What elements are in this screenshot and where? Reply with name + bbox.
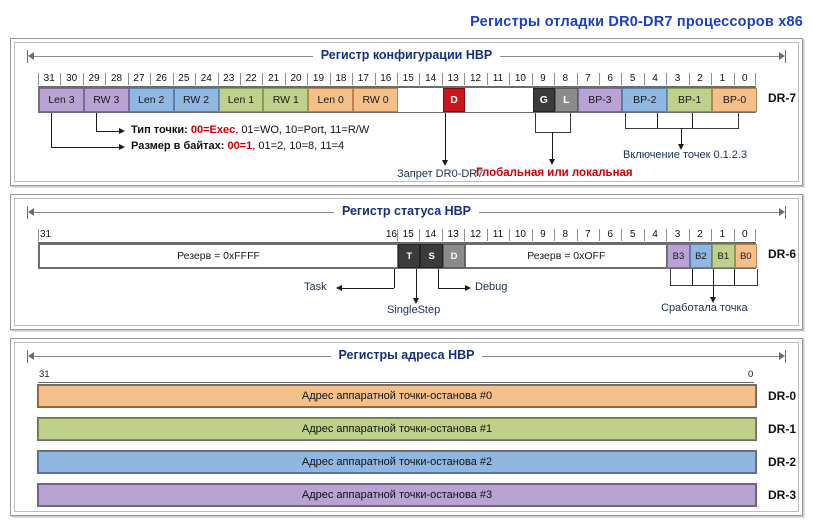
dr6-bit-number: 8	[554, 228, 576, 241]
dr6-bit-separator	[734, 229, 735, 241]
dr6-bit-number: 1	[711, 228, 733, 241]
dr7-bit-separator	[83, 73, 84, 85]
dr7-bit-number: 14	[419, 72, 441, 85]
dr6-field-b1: B1	[712, 244, 734, 268]
dr7-bit-separator	[464, 73, 465, 85]
dr7-field-bp-3: BP-3	[578, 88, 623, 112]
dr7-bit-separator	[38, 73, 39, 85]
dr7-bit-number: 24	[195, 72, 217, 85]
dr7-bit-number: 11	[487, 72, 509, 85]
dr6-bit-number: 7	[577, 228, 599, 241]
dr7-bit-separator	[352, 73, 353, 85]
dr7-field-l: L	[555, 88, 577, 112]
dr7-field-rw-0: RW 0	[353, 88, 398, 112]
dr7-field-empty	[398, 88, 443, 112]
dr7-bit-number: 10	[509, 72, 531, 85]
dr7-bit-number: 17	[352, 72, 374, 85]
dr7-bit-number: 5	[621, 72, 643, 85]
addr-bit-number-right: 0	[748, 369, 753, 380]
addr-bit-number-left: 31	[39, 369, 50, 380]
dr6-field-d: D	[443, 244, 465, 268]
dr7-bit-separator	[419, 73, 420, 85]
dr7-bit-number: 26	[150, 72, 172, 85]
dr7-field-rw-3: RW 3	[84, 88, 129, 112]
dr6-bit-separator	[577, 229, 578, 241]
dr7-connector-d-v	[445, 113, 446, 160]
dr6-bit-separator	[487, 229, 488, 241]
dr6-bit-number-31: 31	[40, 228, 70, 241]
dr7-bit-number: 21	[262, 72, 284, 85]
dr7-field-empty	[465, 88, 532, 112]
dr6-bit-number-16: 16	[375, 228, 397, 241]
dr6-field-t: T	[398, 244, 420, 268]
dr7-connector-len3-v	[51, 113, 52, 147]
dr6-connector-b-v	[713, 285, 714, 297]
dr7-bit-separator	[285, 73, 286, 85]
dr7-bit-separator	[375, 73, 376, 85]
dr6-connector-d-v	[438, 269, 439, 288]
dr6-caption-label: Регистр статуса HBP	[334, 204, 479, 218]
dr6-bit-number: 2	[689, 228, 711, 241]
dr6-bit-separator	[509, 229, 510, 241]
dr7-field-bp-1: BP-1	[667, 88, 712, 112]
dr7-bit-number: 31	[38, 72, 60, 85]
dr6-connector-t-arrow-icon	[336, 285, 342, 291]
dr7-field-row: Len 3RW 3Len 2RW 2Len 1RW 1Len 0RW 0DGLB…	[38, 87, 756, 113]
dr6-bit-separator	[464, 229, 465, 241]
dr7-annotation-global-local: Глобальная или локальная	[476, 167, 633, 179]
dr7-annotation-size-label: Размер в байтах:	[131, 140, 224, 152]
dr7-bit-number: 16	[375, 72, 397, 85]
dr7-bit-separator	[397, 73, 398, 85]
dr7-bit-number: 18	[330, 72, 352, 85]
dr7-bit-separator	[195, 73, 196, 85]
dr7-bit-number: 8	[554, 72, 576, 85]
page-title: Регистры отладки DR0-DR7 процессоров x86	[470, 14, 803, 30]
dr7-annotation-size-first: 00=1	[228, 140, 253, 152]
dr6-caption-row: Регистр статуса HBP	[27, 203, 786, 221]
dr6-connector-s-v	[416, 269, 417, 298]
dr7-connector-bp-v	[681, 128, 682, 144]
dr7-bit-number: 23	[218, 72, 240, 85]
addr-caption-row: Регистры адреса HBP	[27, 347, 786, 365]
dr7-bit-number: 13	[442, 72, 464, 85]
dr7-bit-number: 12	[464, 72, 486, 85]
dr7-bit-separator	[150, 73, 151, 85]
dr6-bit-separator	[755, 229, 756, 241]
dr6-bit-separator	[599, 229, 600, 241]
dr6-connector-t-v	[394, 269, 395, 288]
addr-row-text: Адрес аппаратной точки-останова #1	[302, 423, 492, 435]
dr6-bit-ruler: 31161514131211109876543210	[38, 227, 756, 243]
dr7-bit-number: 27	[128, 72, 150, 85]
dr7-bit-number: 1	[711, 72, 733, 85]
dr7-connector-gl-arrow-icon	[549, 159, 555, 165]
dr7-bit-separator	[173, 73, 174, 85]
dr7-bit-number: 3	[666, 72, 688, 85]
dr7-bit-separator	[554, 73, 555, 85]
dr7-annotation-disable: Запрет DR0-DR7	[397, 168, 483, 180]
dr7-bit-separator	[442, 73, 443, 85]
dr7-bracket-bp-tick1	[657, 113, 658, 128]
dr7-connector-len3-h	[51, 147, 119, 148]
dr7-bit-number: 20	[285, 72, 307, 85]
dr6-connector-d-h	[438, 288, 465, 289]
dr7-bracket-bp	[625, 113, 739, 129]
dr7-bit-number: 0	[734, 72, 756, 85]
dr6-annotation-singlestep: SingleStep	[387, 304, 440, 316]
dr7-bit-number: 28	[105, 72, 127, 85]
dr6-bit-separator	[419, 229, 420, 241]
dr6-bit-separator	[397, 229, 398, 241]
panel-dr7-config-register: Регистр конфигурации HBP 313029282726252…	[10, 38, 803, 186]
dr7-annotation-type-first: 00=Exec	[191, 124, 235, 136]
dr6-bit-number: 4	[644, 228, 666, 241]
dr6-bit-separator	[621, 229, 622, 241]
dr7-field-len-0: Len 0	[308, 88, 353, 112]
addr-register-label: DR-1	[768, 422, 796, 436]
addr-row-text: Адрес аппаратной точки-останова #0	[302, 390, 492, 402]
dr7-bit-number: 30	[60, 72, 82, 85]
dr7-caption-row: Регистр конфигурации HBP	[27, 47, 786, 65]
dr7-bit-number: 22	[240, 72, 262, 85]
dr6-field-s: S	[420, 244, 442, 268]
dr6-bit-separator	[711, 229, 712, 241]
dr6-annotation-task: Task	[304, 281, 327, 293]
dr7-field-len-2: Len 2	[129, 88, 174, 112]
addr-register-label: DR-2	[768, 455, 796, 469]
dr7-bit-separator	[218, 73, 219, 85]
dr7-bit-number: 25	[173, 72, 195, 85]
dr7-register-label: DR-7	[768, 91, 796, 105]
addr-row-bar: Адрес аппаратной точки-останова #1	[38, 418, 756, 440]
dr7-bit-number: 19	[307, 72, 329, 85]
dr7-bit-ruler: 3130292827262524232221201918171615141312…	[38, 71, 756, 87]
dr7-connector-len3-arrow-icon	[119, 144, 125, 150]
dr7-connector-gl-v	[552, 132, 553, 159]
dr6-bit-separator	[38, 229, 39, 241]
dr6-bit-number: 9	[532, 228, 554, 241]
dr7-connector-rw3-h	[96, 131, 119, 132]
dr7-caption-text: Регистр конфигурации HBP	[27, 47, 786, 63]
addr-register-label: DR-3	[768, 488, 796, 502]
dr6-bit-separator	[554, 229, 555, 241]
dr7-bit-number: 4	[644, 72, 666, 85]
dr7-annotation-type: Тип точки: 00=Exec, 01=WO, 10=Port, 11=R…	[131, 124, 369, 136]
addr-caption-label: Регистры адреса HBP	[331, 348, 483, 362]
dr6-field-b0: B0	[735, 244, 757, 268]
dr6-bracket-b-tick2	[713, 269, 714, 285]
panel-address-registers: Регистры адреса HBP 31 0 Адрес аппаратно…	[10, 338, 803, 516]
dr7-bit-separator	[509, 73, 510, 85]
dr6-field-row: Резерв = 0xFFFFРезерв = 0xOFFTSDB3B2B1B0	[38, 243, 756, 269]
dr7-field-rw-1: RW 1	[263, 88, 308, 112]
dr7-bit-separator	[532, 73, 533, 85]
dr7-annotation-type-label: Тип точки:	[131, 124, 188, 136]
dr6-bit-number: 0	[734, 228, 756, 241]
dr6-field-b3: B3	[667, 244, 689, 268]
dr7-bit-separator	[577, 73, 578, 85]
dr6-caption-text: Регистр статуса HBP	[27, 203, 786, 219]
dr6-connector-t-h	[342, 288, 394, 289]
dr6-annotation-triggered: Сработала точка	[661, 302, 748, 314]
dr7-annotation-size: Размер в байтах: 00=1, 01=2, 10=8, 11=4	[131, 140, 344, 152]
dr7-field-g: G	[533, 88, 555, 112]
dr7-bit-grid: 3130292827262524232221201918171615141312…	[38, 71, 756, 113]
addr-row-bar: Адрес аппаратной точки-останова #0	[38, 385, 756, 407]
dr6-reserved-high: Резерв = 0xFFFF	[39, 244, 398, 268]
dr7-field-d: D	[443, 88, 465, 112]
dr7-bit-separator	[60, 73, 61, 85]
dr7-bit-separator	[307, 73, 308, 85]
dr7-bracket-bp-tick2	[692, 113, 693, 128]
dr7-connector-rw3-v	[96, 113, 97, 131]
dr6-bit-separator	[532, 229, 533, 241]
dr6-bit-number: 6	[599, 228, 621, 241]
dr7-bit-number: 6	[599, 72, 621, 85]
dr6-bit-separator	[644, 229, 645, 241]
dr7-bit-number: 2	[689, 72, 711, 85]
dr7-bit-number: 29	[83, 72, 105, 85]
dr6-field-b2: B2	[690, 244, 712, 268]
dr7-bit-separator	[262, 73, 263, 85]
dr6-bit-grid: 31161514131211109876543210 Резерв = 0xFF…	[38, 227, 756, 269]
addr-row-bar: Адрес аппаратной точки-останова #2	[38, 451, 756, 473]
dr6-bit-number: 10	[509, 228, 531, 241]
addr-ruler-baseline	[38, 382, 754, 383]
dr6-bit-number: 3	[666, 228, 688, 241]
addr-row-text: Адрес аппаратной точки-останова #3	[302, 489, 492, 501]
addr-row-bar: Адрес аппаратной точки-останова #3	[38, 484, 756, 506]
dr7-bit-separator	[487, 73, 488, 85]
dr7-bit-number: 7	[577, 72, 599, 85]
dr6-bit-number: 11	[487, 228, 509, 241]
dr6-bit-number: 5	[621, 228, 643, 241]
dr7-bit-separator	[621, 73, 622, 85]
dr6-bracket-b-tick3	[734, 269, 735, 285]
dr6-bit-number: 12	[464, 228, 486, 241]
dr6-reserved-low: Резерв = 0xOFF	[465, 244, 667, 268]
dr7-field-rw-2: RW 2	[174, 88, 219, 112]
dr7-field-bp-0: BP-0	[712, 88, 757, 112]
dr7-bit-separator	[105, 73, 106, 85]
dr7-annotation-type-rest: , 01=WO, 10=Port, 11=R/W	[235, 124, 369, 136]
dr7-bit-separator	[599, 73, 600, 85]
addr-row-text: Адрес аппаратной точки-останова #2	[302, 456, 492, 468]
dr7-field-bp-2: BP-2	[622, 88, 667, 112]
dr6-connector-d-arrow-icon	[465, 285, 471, 291]
dr7-annotation-size-rest: , 01=2, 10=8, 11=4	[252, 140, 344, 152]
dr6-bit-number: 14	[419, 228, 441, 241]
dr7-connector-rw3-arrow-icon	[119, 128, 125, 134]
dr7-bit-separator	[666, 73, 667, 85]
dr6-register-label: DR-6	[768, 247, 796, 261]
dr7-bit-number: 15	[397, 72, 419, 85]
dr7-bit-separator	[240, 73, 241, 85]
dr7-annotation-enable-points: Включение точек 0.1.2.3	[623, 149, 747, 161]
dr6-bit-separator	[442, 229, 443, 241]
dr7-field-len-1: Len 1	[219, 88, 264, 112]
addr-caption-text: Регистры адреса HBP	[27, 347, 786, 363]
addr-register-label: DR-0	[768, 389, 796, 403]
dr7-bit-separator	[689, 73, 690, 85]
dr7-bit-separator	[711, 73, 712, 85]
dr6-bracket-b-tick1	[692, 269, 693, 285]
dr7-caption-label: Регистр конфигурации HBP	[313, 48, 500, 62]
dr7-bit-number: 9	[532, 72, 554, 85]
dr6-annotation-debug: Debug	[475, 281, 507, 293]
dr7-bracket-gl	[535, 113, 571, 133]
dr6-bit-separator	[666, 229, 667, 241]
dr7-bit-separator	[128, 73, 129, 85]
panel-dr6-status-register: Регистр статуса HBP 31161514131211109876…	[10, 194, 803, 330]
dr6-bit-number: 15	[397, 228, 419, 241]
dr6-bracket-b	[670, 269, 758, 286]
dr7-connector-d-arrow-icon	[442, 160, 448, 166]
dr7-bit-separator	[644, 73, 645, 85]
dr6-bit-number: 13	[442, 228, 464, 241]
dr7-bit-separator	[330, 73, 331, 85]
dr7-bit-separator	[734, 73, 735, 85]
dr6-bit-separator	[689, 229, 690, 241]
dr7-field-len-3: Len 3	[39, 88, 84, 112]
dr7-bit-separator	[755, 73, 756, 85]
